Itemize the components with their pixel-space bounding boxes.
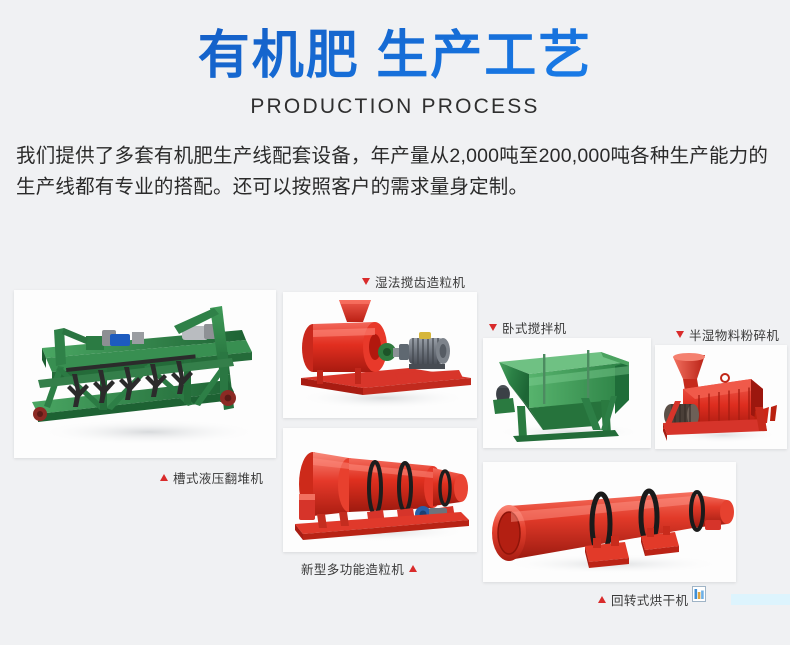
equipment-photo-trough-hydraulic-compost-turner xyxy=(14,290,276,458)
intro-paragraph: 我们提供了多套有机肥生产线配套设备，年产量从2,000吨至200,000吨各种生… xyxy=(16,141,774,203)
triangle-up-icon xyxy=(160,474,168,481)
equipment-caption-semi-wet-material-crusher: 半湿物料粉碎机 xyxy=(676,325,779,344)
footer-highlight-bar xyxy=(731,594,790,605)
triangle-down-icon xyxy=(362,278,370,285)
equipment-card-new-multifunction-granulator[interactable] xyxy=(283,428,477,552)
equipment-photo-rotary-dryer xyxy=(483,462,736,582)
chart-icon[interactable] xyxy=(692,586,706,602)
equipment-card-wet-type-tooth-granulator[interactable] xyxy=(283,292,477,418)
equipment-photo-wet-type-tooth-granulator xyxy=(283,292,477,418)
equipment-gallery: 槽式液压翻堆机 湿法搅齿造粒机 xyxy=(0,262,790,645)
equipment-card-rotary-dryer[interactable] xyxy=(483,462,736,582)
equipment-caption-horizontal-mixer: 卧式搅拌机 xyxy=(489,318,567,337)
caption-text: 新型多功能造粒机 xyxy=(301,559,404,578)
equipment-caption-trough-hydraulic-compost-turner: 槽式液压翻堆机 xyxy=(160,468,263,487)
triangle-down-icon xyxy=(489,324,497,331)
page-subtitle: PRODUCTION PROCESS xyxy=(0,95,790,119)
caption-text: 回转式烘干机 xyxy=(611,590,688,609)
triangle-up-icon xyxy=(409,565,417,572)
caption-text: 卧式搅拌机 xyxy=(502,318,567,337)
caption-text: 半湿物料粉碎机 xyxy=(689,325,779,344)
equipment-caption-new-multifunction-granulator: 新型多功能造粒机 xyxy=(301,559,417,578)
production-process-page: 有机肥 生产工艺 PRODUCTION PROCESS 我们提供了多套有机肥生产… xyxy=(0,0,790,645)
caption-text: 湿法搅齿造粒机 xyxy=(375,272,465,291)
triangle-down-icon xyxy=(676,331,684,338)
equipment-photo-new-multifunction-granulator xyxy=(283,428,477,552)
triangle-up-icon xyxy=(598,596,606,603)
equipment-caption-rotary-dryer: 回转式烘干机 xyxy=(598,590,688,609)
page-header: 有机肥 生产工艺 PRODUCTION PROCESS xyxy=(0,0,790,119)
equipment-photo-horizontal-mixer xyxy=(483,338,651,448)
page-title: 有机肥 生产工艺 xyxy=(0,26,790,87)
equipment-caption-wet-type-tooth-granulator: 湿法搅齿造粒机 xyxy=(362,272,465,291)
equipment-card-semi-wet-material-crusher[interactable] xyxy=(655,345,787,449)
equipment-photo-semi-wet-material-crusher xyxy=(655,345,787,449)
caption-text: 槽式液压翻堆机 xyxy=(173,468,263,487)
equipment-card-trough-hydraulic-compost-turner[interactable] xyxy=(14,290,276,458)
equipment-card-horizontal-mixer[interactable] xyxy=(483,338,651,448)
